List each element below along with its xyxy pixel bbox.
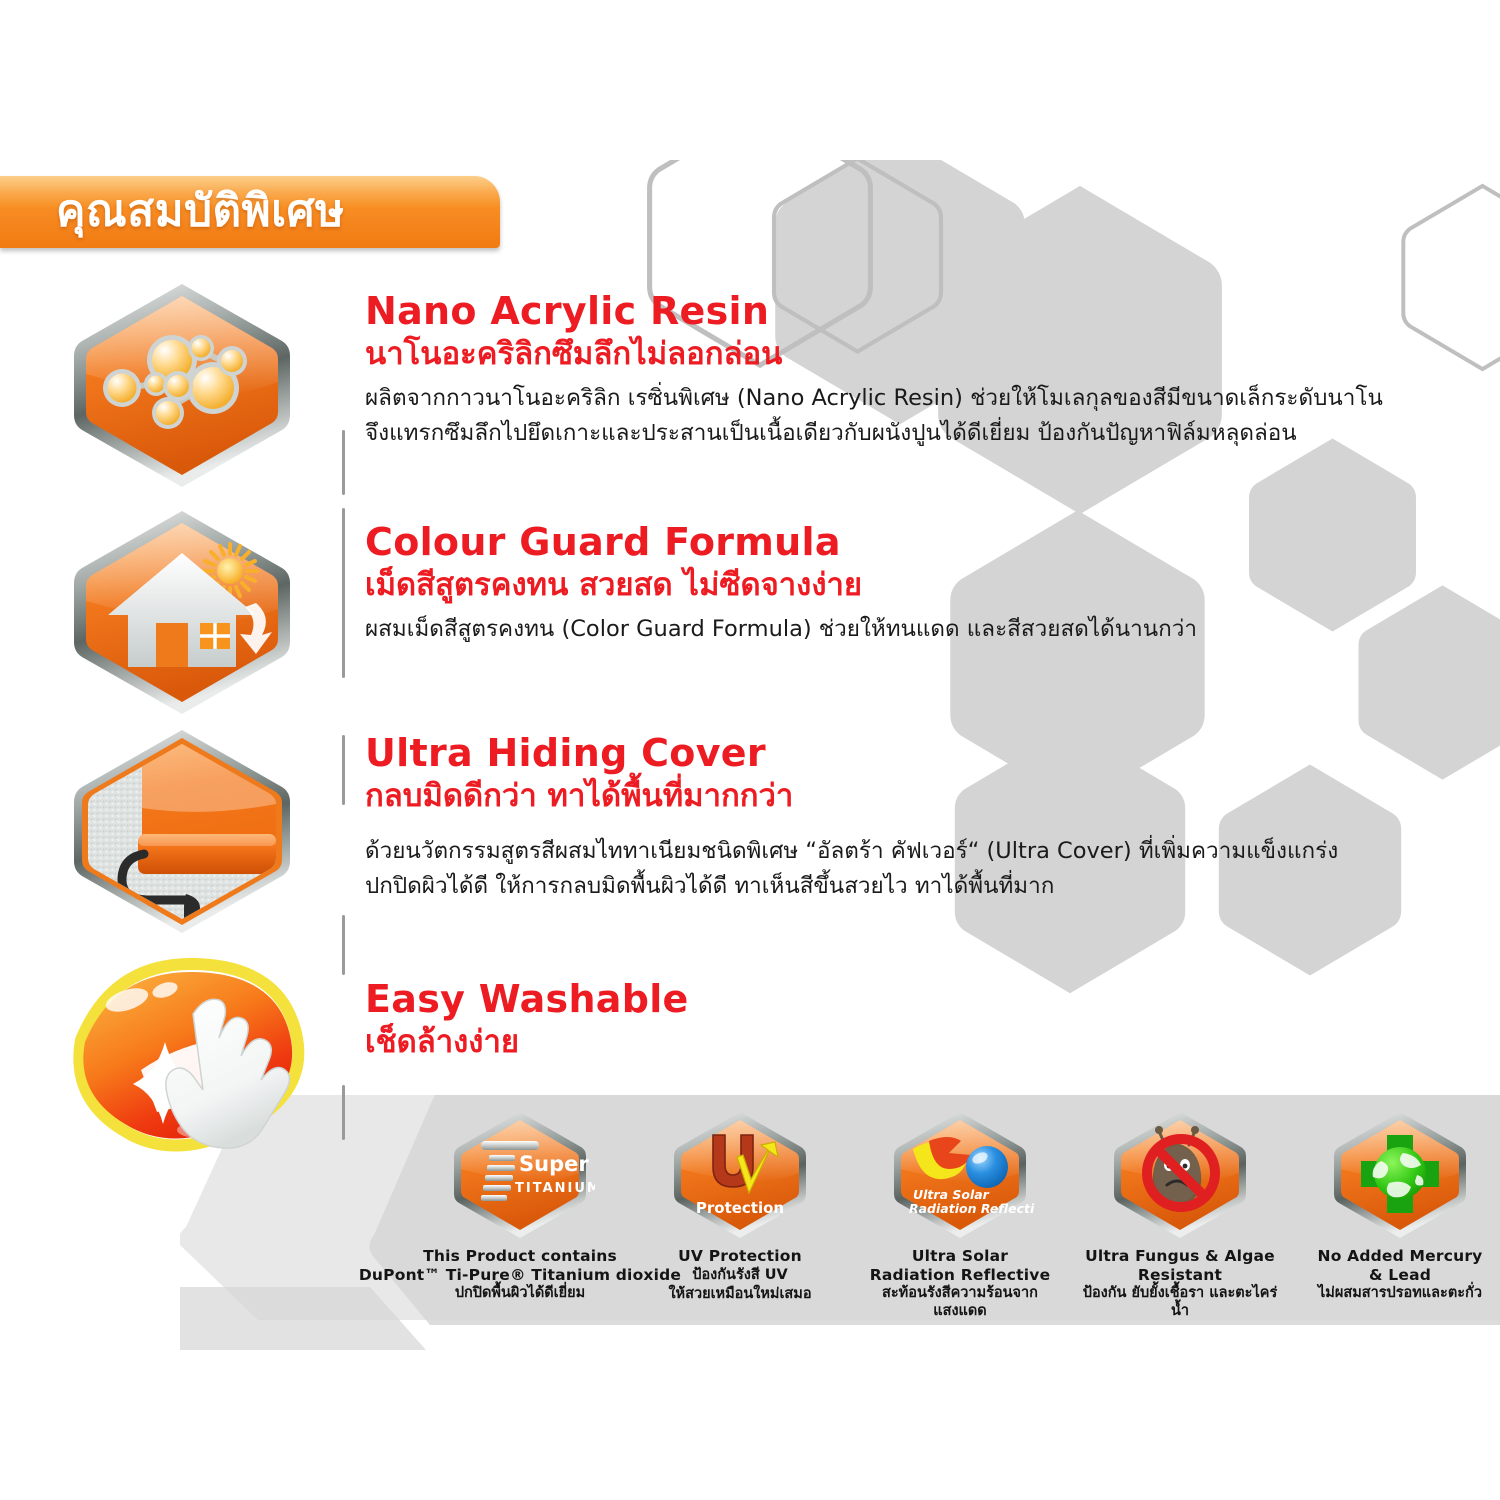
badge-label-th: ไม่ผสมสารปรอทและตะกั่ว [1318, 1285, 1483, 1303]
poster-canvas: คุณสมบัติพิเศษ [0, 0, 1500, 1500]
feature-subheading: นาโนอะคริลิกซึมลึกไม่ลอกล่อน [365, 337, 1383, 372]
feature-heading: Nano Acrylic Resin [365, 292, 1383, 332]
hand-wipe-icon [45, 952, 320, 1167]
nano-molecule-icon [60, 278, 305, 493]
feature-description-line: จึงแทรกซึมลึกไปยึดเกาะและประสานเป็นเนื้อ… [365, 417, 1383, 450]
badge-label-en: This Product contains [359, 1247, 681, 1266]
feature-description-line: ผสมเม็ดสีสูตรคงทน (Color Guard Formula) … [365, 613, 1197, 646]
feature-subheading: เช็ดล้างง่าย [365, 1025, 689, 1060]
badge-text-main: Super [519, 1152, 589, 1176]
badge-text-sub: TITANIUM [515, 1181, 595, 1196]
house-sun-icon [60, 505, 305, 720]
feature-heading: Ultra Hiding Cover [365, 734, 1338, 774]
badge-label-th: ปกปิดพื้นผิวได้ดีเยี่ยม [359, 1285, 681, 1303]
feature-description-line: ด้วยนวัตกรรมสูตรสีผสมไททาเนียมชนิดพิเศษ … [365, 835, 1338, 868]
feature-row-easy-washable: Easy Washable เช็ดล้างง่าย [45, 952, 1465, 1152]
feature-heading: Colour Guard Formula [365, 523, 1197, 563]
feature-row-colour-guard-formula: Colour Guard Formula เม็ดสีสูตรคงทน สวยส… [60, 505, 1480, 705]
feature-row-ultra-hiding-cover: Ultra Hiding Cover กลบมิดดีกว่า ทาได้พื้… [60, 722, 1480, 937]
badge-text-main: Ultra Solar [913, 1187, 990, 1202]
badge-label-th: ให้สวยเหมือนใหม่เสมอ [668, 1286, 811, 1304]
paint-roller-icon [60, 722, 305, 947]
feature-row-nano-acrylic-resin: Nano Acrylic Resin นาโนอะคริลิกซึมลึกไม่… [60, 278, 1480, 488]
badge-label-en: & Lead [1318, 1266, 1483, 1285]
feature-subheading: กลบมิดดีกว่า ทาได้พื้นที่มากกว่า [365, 779, 1338, 814]
badge-text-sub: Radiation Reflective [909, 1201, 1035, 1216]
badge-label-en: UV Protection [668, 1247, 811, 1266]
badge-label-th: สะท้อนรังสีความร้อนจากแสงแดด [860, 1285, 1060, 1321]
section-header-banner: คุณสมบัติพิเศษ [0, 176, 500, 248]
badge-label-th: ป้องกันรังสี UV [668, 1267, 811, 1285]
badge-label-en: Radiation Reflective [860, 1266, 1060, 1285]
feature-subheading: เม็ดสีสูตรคงทน สวยสด ไม่ซีดจางง่าย [365, 568, 1197, 603]
feature-description-line: ผลิตจากกาวนาโนอะคริลิก เรซิ่นพิเศษ (Nano… [365, 382, 1383, 415]
page-title: คุณสมบัติพิเศษ [56, 176, 345, 246]
feature-heading: Easy Washable [365, 980, 689, 1020]
badge-label-en: Ultra Solar [860, 1247, 1060, 1266]
badge-label-en: DuPont™ Ti-Pure® Titanium dioxide [359, 1266, 681, 1285]
badge-label-en: Resistant [1080, 1266, 1280, 1285]
badge-label-th: ป้องกัน ยับยั้งเชื้อรา และตะไคร่น้ำ [1080, 1285, 1280, 1321]
badge-label-en: No Added Mercury [1318, 1247, 1483, 1266]
feature-description-line: ปกปิดผิวได้ดี ให้การกลบมิดพื้นผิวได้ดี ท… [365, 870, 1338, 903]
badge-label-en: Ultra Fungus & Algae [1080, 1247, 1280, 1266]
badge-text-sub: Protection [696, 1199, 784, 1217]
